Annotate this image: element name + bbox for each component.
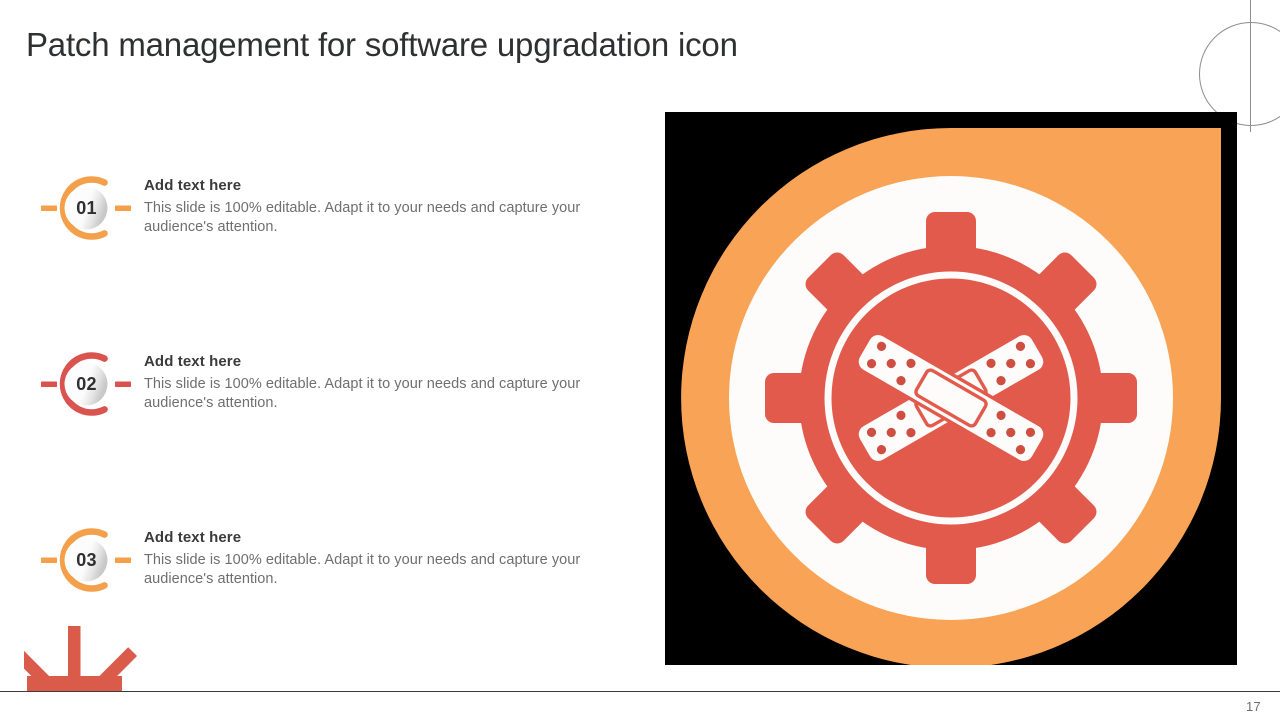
list-item[interactable]: 03 Add text here This slide is 100% edit… — [38, 520, 618, 610]
list-item-body: This slide is 100% editable. Adapt it to… — [144, 375, 614, 412]
badge-number: 02 — [38, 344, 134, 424]
number-badge: 02 — [38, 344, 134, 424]
three-arrows-converging-down-icon — [24, 624, 144, 692]
list-item-text: Add text here This slide is 100% editabl… — [144, 353, 614, 412]
footer-divider — [0, 691, 1280, 692]
feature-list: 01 Add text here This slide is 100% edit… — [0, 0, 640, 720]
decorative-vertical-line — [1250, 0, 1251, 132]
list-item-heading: Add text here — [144, 177, 614, 194]
patch-management-graphic — [665, 112, 1237, 665]
list-item-heading: Add text here — [144, 529, 614, 546]
badge-number: 01 — [38, 168, 134, 248]
number-badge: 01 — [38, 168, 134, 248]
page-number: 17 — [1246, 699, 1261, 714]
list-item-body: This slide is 100% editable. Adapt it to… — [144, 551, 614, 588]
list-item[interactable]: 01 Add text here This slide is 100% edit… — [38, 168, 618, 258]
number-badge: 03 — [38, 520, 134, 600]
list-item[interactable]: 02 Add text here This slide is 100% edit… — [38, 344, 618, 434]
list-item-body: This slide is 100% editable. Adapt it to… — [144, 199, 614, 236]
badge-number: 03 — [38, 520, 134, 600]
list-item-heading: Add text here — [144, 353, 614, 370]
decorative-circle-outline — [1199, 22, 1280, 126]
list-item-text: Add text here This slide is 100% editabl… — [144, 177, 614, 236]
list-item-text: Add text here This slide is 100% editabl… — [144, 529, 614, 588]
